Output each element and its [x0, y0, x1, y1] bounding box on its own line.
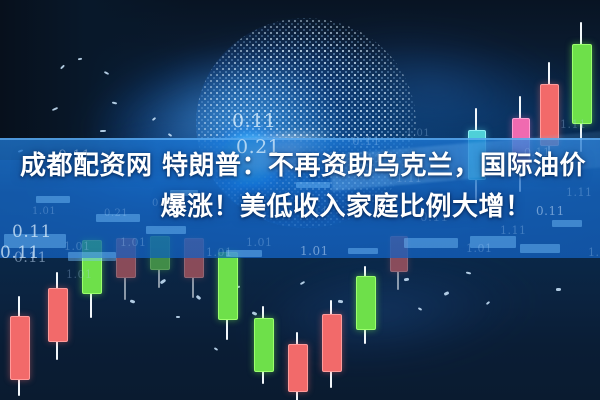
sparkle-particle: [176, 316, 180, 318]
headline-text: 成都配资网 特朗普：不再资助乌克兰，国际油价 爆涨！美低收入家庭比例大增！: [0, 146, 600, 228]
headline-line-2: 爆涨！美低收入家庭比例大增！: [0, 187, 600, 228]
candlestick-body: [254, 318, 274, 372]
candlestick-body: [48, 288, 68, 342]
candlestick-body: [356, 276, 376, 330]
sparkle-particle: [556, 288, 561, 291]
headline-line-2-text: 爆涨！美低收入家庭比例大增！: [160, 187, 531, 228]
candlestick-body: [322, 314, 342, 372]
candlestick: [254, 306, 272, 384]
candlestick-body: [288, 344, 308, 392]
data-bar: [404, 238, 458, 248]
candlestick: [322, 300, 340, 388]
data-bar: [470, 236, 516, 248]
candlestick: [48, 272, 66, 360]
candlestick-body: [572, 44, 592, 124]
candlestick: [218, 252, 236, 340]
data-bar: [4, 234, 66, 248]
headline-line-1: 成都配资网 特朗普：不再资助乌克兰，国际油价: [0, 146, 600, 187]
candlestick-body: [10, 316, 30, 380]
data-bar: [348, 248, 378, 254]
candlestick-body: [218, 252, 238, 320]
background-dark-left: [0, 0, 190, 160]
data-bar: [68, 252, 116, 261]
candlestick: [288, 332, 306, 400]
candlestick: [10, 296, 28, 396]
data-bar: [226, 250, 262, 257]
news-banner-image: 0.110.210.111.010.110.111.011.010.211.01…: [0, 0, 600, 400]
data-bar: [520, 244, 560, 253]
candlestick: [356, 266, 374, 344]
